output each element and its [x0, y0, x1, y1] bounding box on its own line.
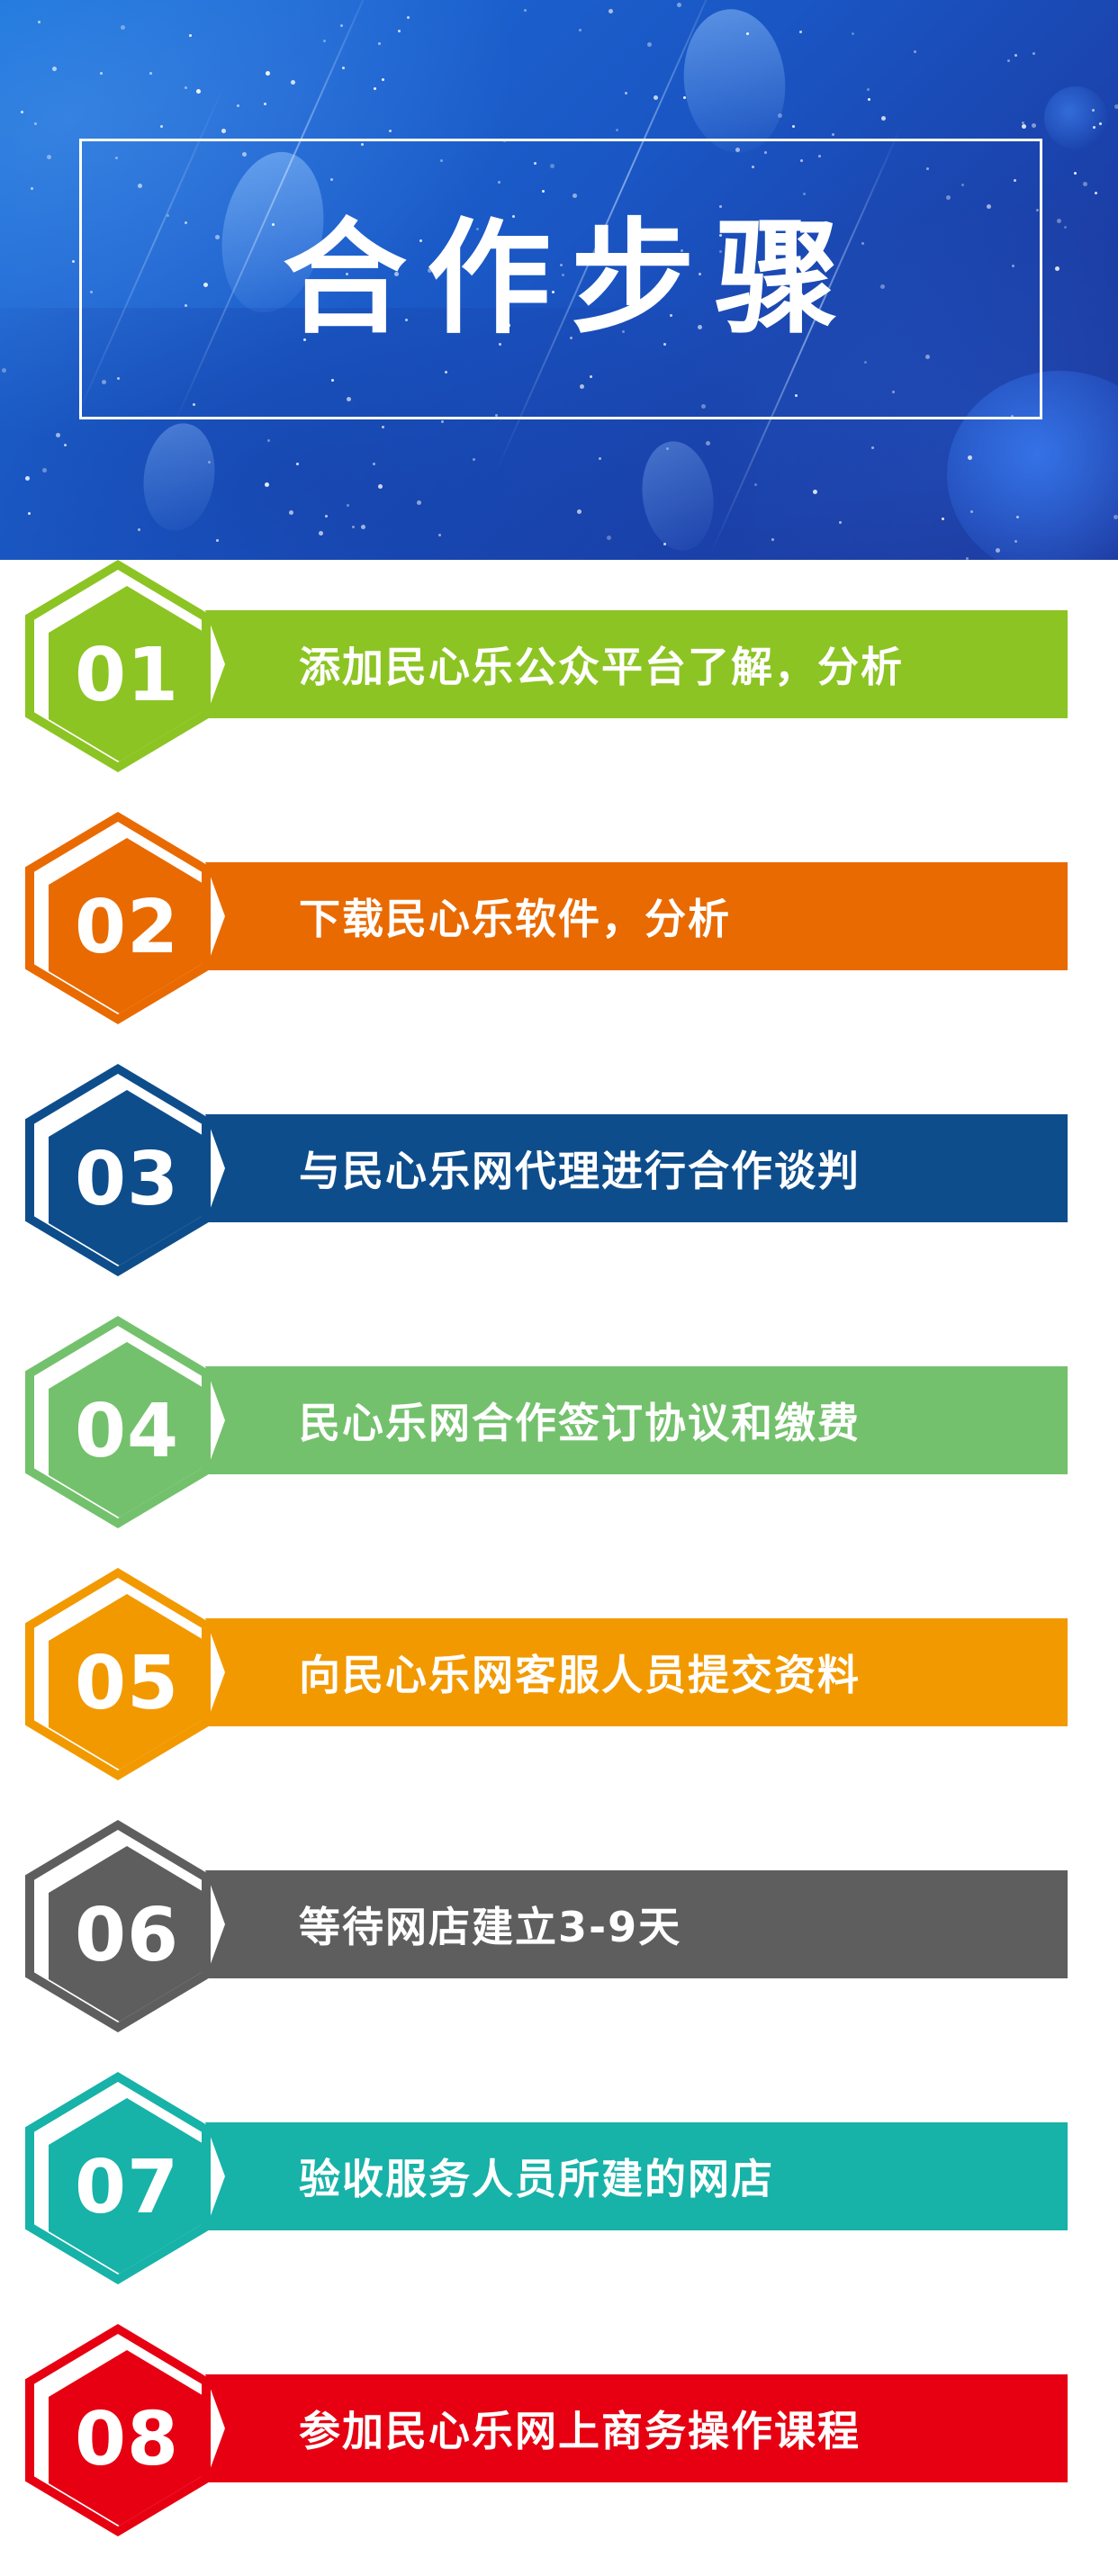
- hexagon-core: 08: [49, 2350, 205, 2530]
- hexagon-core: 07: [49, 2098, 205, 2278]
- title-frame: 合作步骤: [79, 139, 1042, 419]
- star-dot: [524, 9, 527, 12]
- step-hexagon-badge[interactable]: 04: [25, 1316, 211, 1528]
- star-dot: [852, 32, 854, 35]
- star-dot: [778, 113, 782, 118]
- star-dot: [799, 31, 802, 33]
- star-dot: [1092, 109, 1095, 112]
- step-row[interactable]: 参加民心乐网上商务操作课程08: [0, 2324, 1118, 2576]
- step-row[interactable]: 验收服务人员所建的网店07: [0, 2072, 1118, 2324]
- hexagon-core: 04: [49, 1342, 205, 1522]
- hexagon-outline: 03: [34, 1074, 202, 1266]
- step-label: 民心乐网合作签订协议和缴费: [299, 1391, 861, 1450]
- step-bar[interactable]: 向民心乐网客服人员提交资料: [205, 1618, 1068, 1726]
- step-hexagon-badge[interactable]: 03: [25, 1064, 211, 1276]
- star-dot: [1114, 104, 1118, 109]
- step-number: 01: [75, 639, 179, 713]
- step-hexagon-badge[interactable]: 07: [25, 2072, 211, 2284]
- star-dot: [1032, 123, 1036, 128]
- step-bar[interactable]: 下载民心乐软件，分析: [205, 862, 1068, 970]
- star-dot: [609, 9, 613, 14]
- step-row[interactable]: 向民心乐网客服人员提交资料05: [0, 1568, 1118, 1820]
- step-bar[interactable]: 验收服务人员所建的网店: [205, 2122, 1068, 2230]
- step-bar[interactable]: 添加民心乐公众平台了解，分析: [205, 610, 1068, 718]
- star-dot: [1022, 124, 1026, 129]
- star-dot: [579, 29, 582, 32]
- hexagon-outline: 02: [34, 822, 202, 1014]
- hexagon-outline: 01: [34, 570, 202, 762]
- step-label: 向民心乐网客服人员提交资料: [299, 1643, 861, 1702]
- star-dot: [616, 129, 618, 131]
- step-row[interactable]: 下载民心乐软件，分析02: [0, 812, 1118, 1064]
- star-dot: [1007, 59, 1010, 62]
- step-number: 06: [75, 1899, 179, 1973]
- step-bar[interactable]: 与民心乐网代理进行合作谈判: [205, 1114, 1068, 1222]
- hexagon-core: 06: [49, 1846, 205, 2026]
- star-dot: [683, 96, 686, 99]
- hexagon-core: 02: [49, 838, 205, 1018]
- step-label: 参加民心乐网上商务操作课程: [299, 2399, 861, 2458]
- step-hexagon-badge[interactable]: 08: [25, 2324, 211, 2536]
- star-dot: [1093, 126, 1095, 129]
- star-dot: [625, 92, 627, 95]
- hexagon-core: 01: [49, 586, 205, 766]
- steps-list: 添加民心乐公众平台了解，分析01下载民心乐软件，分析02与民心乐网代理进行合作谈…: [0, 560, 1118, 2576]
- star-dot: [654, 95, 658, 100]
- header-banner: 合作步骤: [0, 0, 1118, 560]
- step-bar[interactable]: 民心乐网合作签订协议和缴费: [205, 1366, 1068, 1474]
- step-label: 等待网店建立3-9天: [299, 1895, 681, 1954]
- step-number: 03: [75, 1143, 179, 1217]
- step-number: 07: [75, 2151, 179, 2225]
- star-dot: [914, 50, 916, 53]
- star-dot: [1014, 54, 1017, 57]
- star-dot: [832, 133, 834, 136]
- star-dot: [1022, 122, 1024, 124]
- hexagon-core: 05: [49, 1594, 205, 1774]
- step-hexagon-badge[interactable]: 01: [25, 560, 211, 772]
- star-dot: [881, 116, 886, 121]
- step-hexagon-badge[interactable]: 02: [25, 812, 211, 1024]
- step-hexagon-badge[interactable]: 06: [25, 1820, 211, 2032]
- hexagon-outline: 05: [34, 1578, 202, 1770]
- page-title: 合作步骤: [82, 217, 1040, 341]
- step-label: 下载民心乐软件，分析: [299, 887, 731, 946]
- hexagon-outline: 04: [34, 1326, 202, 1518]
- star-dot: [867, 88, 870, 91]
- step-row[interactable]: 等待网店建立3-9天06: [0, 1820, 1118, 2072]
- star-dot: [647, 42, 652, 47]
- decorative-circle-small: [1044, 86, 1107, 149]
- step-label: 与民心乐网代理进行合作谈判: [299, 1139, 861, 1198]
- step-number: 04: [75, 1395, 179, 1469]
- step-row[interactable]: 添加民心乐公众平台了解，分析01: [0, 560, 1118, 812]
- star-dot: [746, 32, 749, 35]
- step-hexagon-badge[interactable]: 05: [25, 1568, 211, 1780]
- step-number: 05: [75, 1647, 179, 1721]
- hexagon-outline: 06: [34, 1830, 202, 2022]
- step-bar[interactable]: 参加民心乐网上商务操作课程: [205, 2374, 1068, 2482]
- step-row[interactable]: 与民心乐网代理进行合作谈判03: [0, 1064, 1118, 1316]
- step-label: 验收服务人员所建的网店: [299, 2147, 774, 2206]
- star-dot: [677, 3, 681, 7]
- step-number: 02: [75, 891, 179, 965]
- hexagon-outline: 07: [34, 2082, 202, 2274]
- star-dot: [1032, 52, 1035, 55]
- step-row[interactable]: 民心乐网合作签订协议和缴费04: [0, 1316, 1118, 1568]
- step-number: 08: [75, 2403, 179, 2477]
- step-bar[interactable]: 等待网店建立3-9天: [205, 1870, 1068, 1978]
- step-label: 添加民心乐公众平台了解，分析: [299, 635, 904, 694]
- hexagon-core: 03: [49, 1090, 205, 1270]
- star-dot: [868, 98, 870, 101]
- star-dot: [1099, 122, 1102, 125]
- star-dot: [792, 125, 795, 128]
- hexagon-outline: 08: [34, 2334, 202, 2526]
